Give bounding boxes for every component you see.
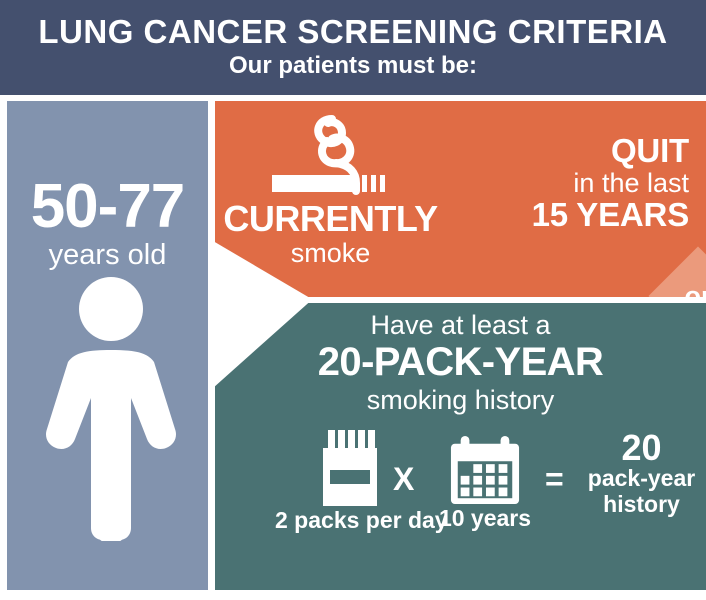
lung-cancer-screening-infographic: LUNG CANCER SCREENING CRITERIA Our patie…: [0, 0, 706, 600]
years-item: 10 years: [425, 434, 545, 531]
person-icon: [43, 276, 179, 541]
age-range-label: years old: [7, 241, 208, 270]
quit-smoking-block: QUIT in the last 15 YEARS: [532, 134, 689, 233]
quit-years-value: 15 YEARS: [532, 198, 689, 233]
quit-label: QUIT: [532, 134, 689, 169]
smoke-label: smoke: [223, 239, 438, 267]
cigarette-smoke-icon: [270, 111, 400, 206]
currently-label: CURRENTLY: [223, 201, 438, 238]
pack-year-history-panel: Have at least a 20-PACK-YEAR smoking his…: [215, 303, 706, 590]
pack-year-result: 20 pack-year history: [577, 430, 706, 518]
cigarette-smoke-icon-wrapper: [270, 111, 400, 206]
currently-smoke-block: CURRENTLY smoke: [223, 201, 438, 267]
years-caption: 10 years: [425, 506, 545, 531]
calendar-icon: [449, 434, 521, 506]
result-label-line1: pack-year: [577, 466, 706, 492]
page-title: LUNG CANCER SCREENING CRITERIA: [38, 15, 667, 49]
history-intro-text: Have at least a: [215, 311, 706, 341]
quit-timeframe-label: in the last: [532, 169, 689, 199]
multiply-symbol: X: [393, 463, 414, 495]
age-criteria-panel: 50-77 years old: [7, 101, 208, 590]
pack-year-value: 20-PACK-YEAR: [215, 341, 706, 383]
result-label-line2: history: [577, 492, 706, 518]
pack-year-equation: 2 packs per day X: [225, 428, 706, 553]
packs-per-day-caption: 2 packs per day: [275, 508, 425, 533]
header-subtitle: Our patients must be:: [229, 53, 477, 79]
age-range-value: 50-77: [7, 176, 208, 238]
smoking-status-panel: CURRENTLY smoke or QUIT in the last 15 Y…: [215, 101, 706, 297]
history-suffix-text: smoking history: [215, 386, 706, 416]
equals-symbol: =: [545, 463, 564, 495]
cigarette-pack-icon: [319, 428, 381, 508]
result-number: 20: [577, 430, 706, 466]
header-banner: LUNG CANCER SCREENING CRITERIA Our patie…: [0, 0, 706, 95]
